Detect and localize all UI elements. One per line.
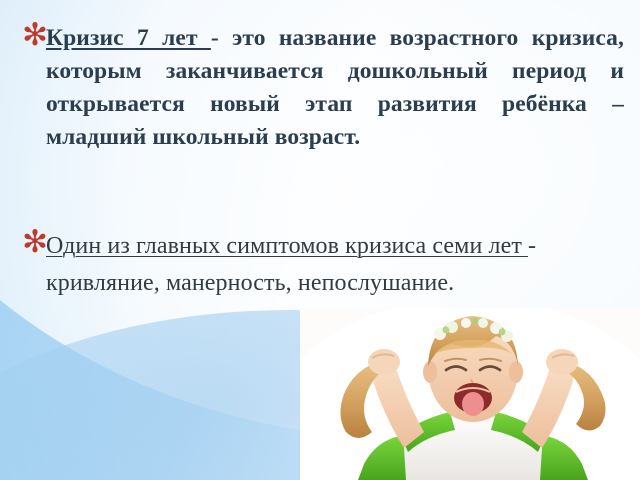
hand-left bbox=[368, 349, 400, 375]
hand-right bbox=[546, 349, 578, 375]
photo-girl-sticking-tongue-out bbox=[300, 308, 640, 480]
bullet-1-underlined-term: Кризис 7 лет bbox=[46, 25, 211, 51]
slide: ✻Кризис 7 лет - это название возрастного… bbox=[0, 0, 640, 480]
bullet-paragraph-2: ✻Один из главных симптомов кризиса семи … bbox=[46, 228, 586, 302]
photo-illustration bbox=[300, 308, 640, 480]
asterisk-bullet-icon-1: ✻ bbox=[22, 18, 48, 51]
bullet-paragraph-1: ✻Кризис 7 лет - это название возрастного… bbox=[46, 22, 624, 154]
bullet-2-underlined-term: Один из главных симптомов кризиса семи л… bbox=[46, 233, 528, 259]
tongue bbox=[462, 392, 484, 416]
asterisk-bullet-icon-2: ✻ bbox=[22, 223, 48, 260]
